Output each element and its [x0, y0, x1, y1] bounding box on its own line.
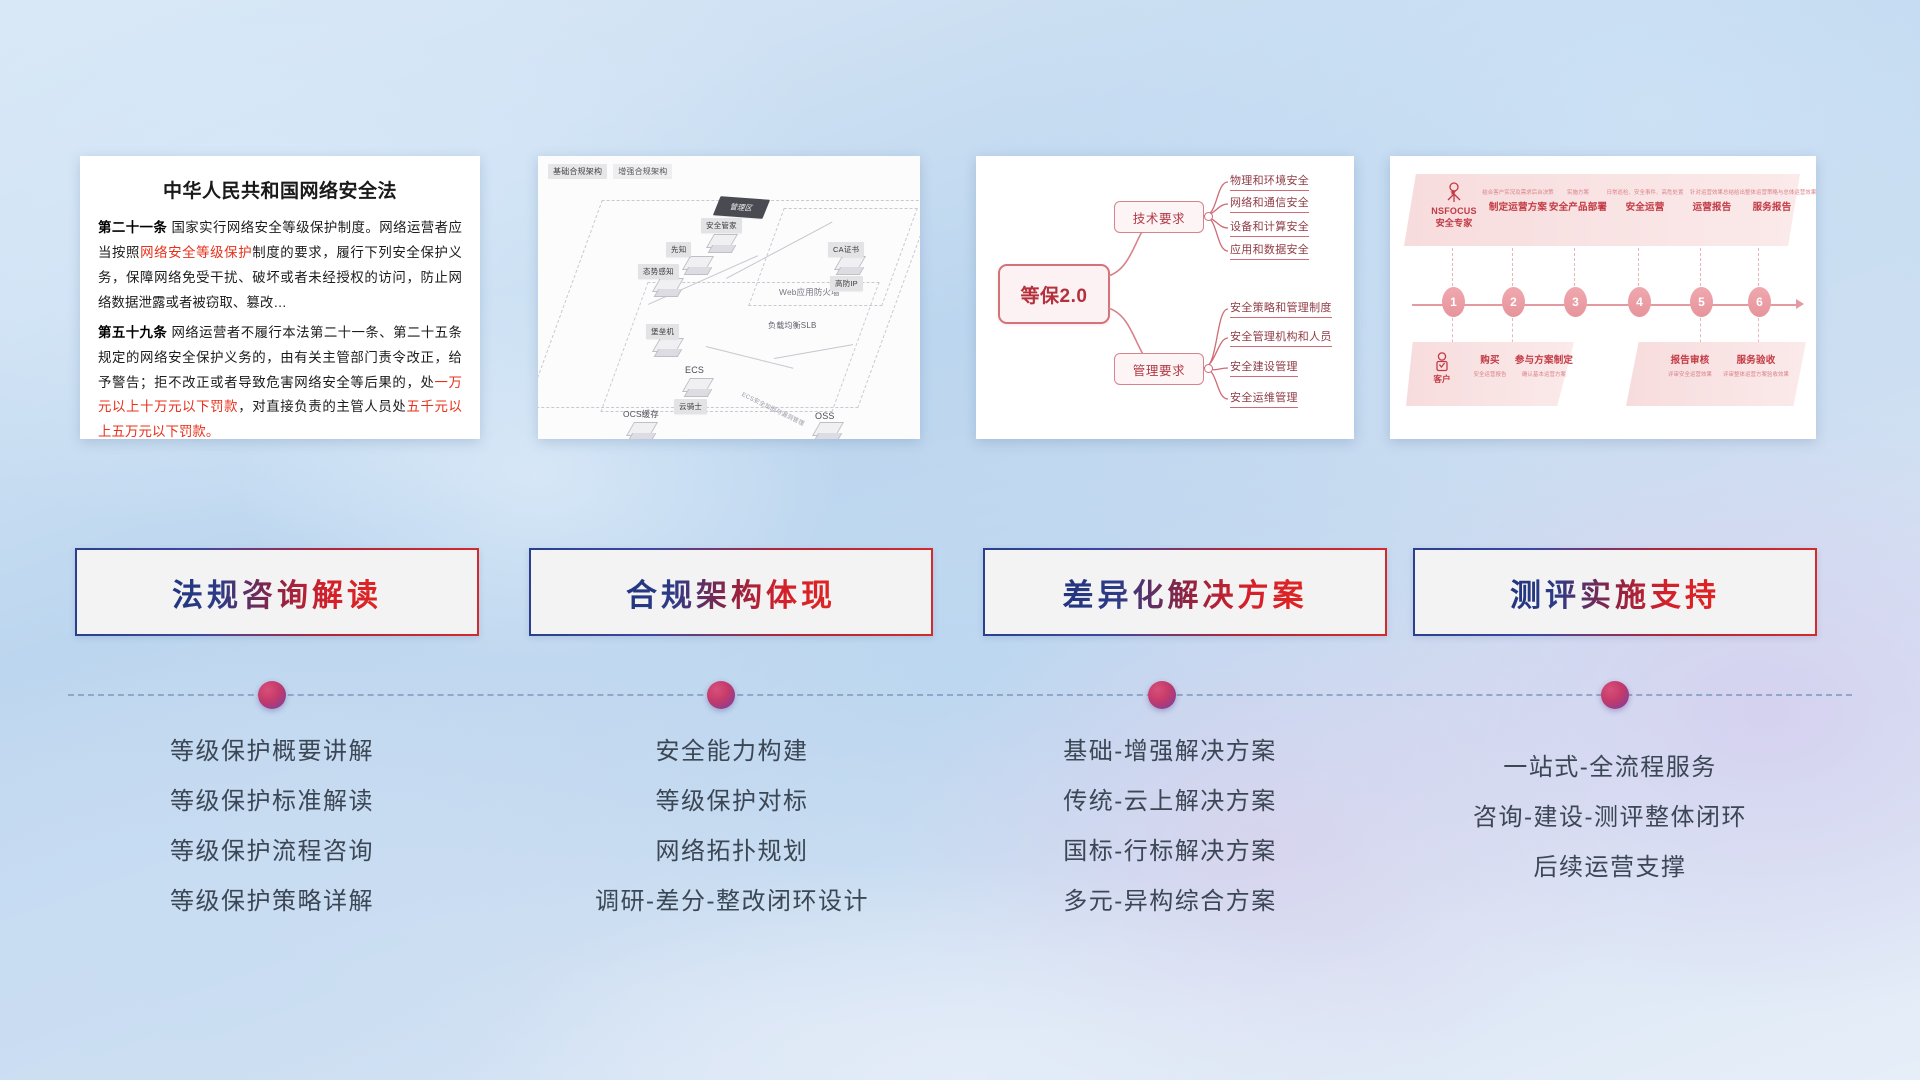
nsfocus-marker-3: 3: [1564, 287, 1587, 317]
nsfocus-tick-5: [1700, 248, 1702, 286]
feature-item: 等级保护概要讲解: [62, 740, 482, 764]
nsfocus-marker-5: 5: [1690, 287, 1713, 317]
section-title-box-2[interactable]: 合规架构体现: [529, 548, 933, 636]
feature-item: 传统-云上解决方案: [960, 790, 1380, 814]
feature-item: 等级保护对标: [522, 790, 942, 814]
nsfocus-bottom-step-4: 服务验收 评审整体运营方案验收效果: [1720, 352, 1792, 381]
card-mindmap[interactable]: 等保2.0 技术要求 管理要求 物理和环境安全 网络和通信安: [976, 156, 1354, 439]
law-title: 中华人民共和国网络安全法: [98, 176, 462, 203]
timeline-dot-3[interactable]: [1148, 681, 1176, 709]
nsfocus-top-step-5-title: 服务报告: [1734, 199, 1810, 213]
nsfocus-tick-1: [1452, 248, 1454, 286]
law-article-21-label: 第二十一条: [98, 220, 167, 235]
mindmap-leaf-mgmt-4: 安全运维管理: [1230, 389, 1298, 408]
mindmap-leaf-tech-3: 设备和计算安全: [1230, 218, 1309, 237]
nsfocus-customer-label: 客户: [1418, 352, 1466, 385]
feature-item: 等级保护标准解读: [62, 790, 482, 814]
section-title-box-1[interactable]: 法规咨询解读: [75, 548, 479, 636]
nsfocus-axis-arrow-icon: [1796, 299, 1804, 309]
nsfocus-tick-4: [1638, 248, 1640, 286]
nsfocus-marker-2: 2: [1502, 287, 1525, 317]
nsfocus-timeline-diagram: NSFOCUS 安全专家 结合客户实况及需求后台决策 制定运营方案 实施方案 安…: [1390, 156, 1816, 439]
mindmap-branch-management: 管理要求: [1114, 353, 1204, 385]
law-article-21-highlight: 网络安全等级保护: [140, 245, 252, 260]
nsfocus-bottom-step-3-title: 报告审核: [1658, 352, 1722, 366]
nsfocus-expert-line2: 安全专家: [1422, 216, 1486, 229]
architecture-node-ocs-cache: OCS缓存: [618, 406, 664, 422]
feature-item: 国标-行标解决方案: [960, 840, 1380, 864]
nsfocus-bottom-step-2-desc: 确认基本运营方案: [1504, 370, 1584, 378]
section-title-1: 法规咨询解读: [172, 570, 382, 615]
section-title-box-3[interactable]: 差异化解决方案: [983, 548, 1387, 636]
feature-item: 后续运营支撑: [1400, 856, 1820, 880]
feature-item: 网络拓扑规划: [522, 840, 942, 864]
mindmap-leaf-tech-2: 网络和通信安全: [1230, 194, 1309, 213]
nsfocus-marker-1: 1: [1442, 287, 1465, 317]
architecture-node-situational-awareness: 态势感知: [638, 264, 679, 279]
feature-item: 基础-增强解决方案: [960, 740, 1380, 764]
nsfocus-bottom-step-4-title: 服务验收: [1720, 352, 1792, 366]
section-title-box-4[interactable]: 测评实施支持: [1413, 548, 1817, 636]
mindmap-dot-management: [1204, 364, 1213, 373]
feature-item: 一站式-全流程服务: [1400, 756, 1820, 780]
nsfocus-expert-line1: NSFOCUS: [1422, 206, 1486, 216]
mindmap-diagram: 等保2.0 技术要求 管理要求 物理和环境安全 网络和通信安: [976, 156, 1354, 439]
feature-list-3: 基础-增强解决方案 传统-云上解决方案 国标-行标解决方案 多元-异构综合方案: [960, 740, 1380, 940]
feature-list-2: 安全能力构建 等级保护对标 网络拓扑规划 调研-差分-整改闭环设计: [522, 740, 942, 940]
card-compliance-architecture[interactable]: 基础合规架构 增强合规架构 管理区 安全管家 先知: [538, 156, 920, 439]
nsfocus-top-step-5: 给出整体运营策略与总体运营效果 服务报告: [1734, 188, 1810, 213]
nsfocus-expert-label: NSFOCUS 安全专家: [1422, 182, 1486, 229]
timeline-dot-4[interactable]: [1601, 681, 1629, 709]
architecture-node-anti-ddos-ip: 高防IP: [830, 276, 863, 291]
feature-list-1: 等级保护概要讲解 等级保护标准解读 等级保护流程咨询 等级保护策略详解: [62, 740, 482, 940]
nsfocus-axis-line: [1412, 304, 1798, 306]
architecture-node-ca-cert: CA证书: [828, 242, 864, 257]
nsfocus-bottom-step-4-desc: 评审整体运营方案验收效果: [1720, 370, 1792, 378]
law-article-21: 第二十一条 国家实行网络安全等级保护制度。网络运营者应当按照网络安全等级保护制度…: [98, 216, 462, 316]
nsfocus-tick-3: [1574, 248, 1576, 286]
mindmap-leaf-mgmt-1: 安全策略和管理制度: [1230, 299, 1332, 318]
mindmap-leaf-mgmt-3: 安全建设管理: [1230, 358, 1298, 377]
feature-item: 咨询-建设-测评整体闭环: [1400, 806, 1820, 830]
timeline-dot-2[interactable]: [707, 681, 735, 709]
law-article-59-text-b: ，对直接负责的主管人员处: [238, 399, 406, 414]
nsfocus-tick-6: [1758, 248, 1760, 286]
architecture-node-ecs: ECS: [680, 363, 709, 377]
section-title-2: 合规架构体现: [626, 570, 836, 615]
section-title-4: 测评实施支持: [1510, 570, 1720, 615]
nsfocus-marker-6: 6: [1748, 287, 1771, 317]
nsfocus-marker-4: 4: [1628, 287, 1651, 317]
nsfocus-tick-2: [1512, 248, 1514, 286]
feature-item: 多元-异构综合方案: [960, 890, 1380, 914]
mindmap-dot-technical: [1204, 212, 1213, 221]
section-title-3: 差异化解决方案: [1063, 570, 1308, 615]
law-article-59: 第五十九条 网络运营者不履行本法第二十一条、第二十五条规定的网络安全保护义务的，…: [98, 321, 462, 439]
architecture-tab-enhanced[interactable]: 增强合规架构: [613, 164, 672, 179]
feature-item: 等级保护流程咨询: [62, 840, 482, 864]
architecture-node-slb: 负载均衡SLB: [763, 318, 822, 333]
mindmap-leaf-mgmt-2: 安全管理机构和人员: [1230, 328, 1332, 347]
architecture-diagram: 基础合规架构 增强合规架构 管理区 安全管家 先知: [538, 156, 920, 439]
expert-person-icon: [1444, 182, 1464, 204]
architecture-tabs: 基础合规架构 增强合规架构: [548, 164, 672, 179]
architecture-node-management-zone: 管理区: [713, 196, 770, 219]
nsfocus-bottom-step-2-title: 参与方案制定: [1504, 352, 1584, 366]
timeline-dot-1[interactable]: [258, 681, 286, 709]
timeline-rail: [68, 694, 1852, 696]
feature-item: 调研-差分-整改闭环设计: [522, 890, 942, 914]
architecture-tab-basic[interactable]: 基础合规架构: [548, 164, 607, 179]
architecture-node-bastion-host: 堡垒机: [646, 324, 679, 339]
law-document-body: 中华人民共和国网络安全法 第二十一条 国家实行网络安全等级保护制度。网络运营者应…: [80, 156, 480, 439]
nsfocus-top-step-5-desc: 给出整体运营策略与总体运营效果: [1734, 188, 1810, 196]
nsfocus-bottom-step-2: 参与方案制定 确认基本运营方案: [1504, 352, 1584, 381]
architecture-node-xianzhi: 先知: [666, 242, 691, 257]
architecture-node-yunqishi: 云骑士: [674, 399, 707, 414]
mindmap-leaf-tech-1: 物理和环境安全: [1230, 172, 1309, 191]
card-nsfocus-timeline[interactable]: NSFOCUS 安全专家 结合客户实况及需求后台决策 制定运营方案 实施方案 安…: [1390, 156, 1816, 439]
architecture-node-security-butler: 安全管家: [701, 218, 742, 233]
mindmap-leaf-tech-4: 应用和数据安全: [1230, 241, 1309, 260]
architecture-node-oss: OSS: [810, 409, 840, 423]
feature-item: 安全能力构建: [522, 740, 942, 764]
law-article-59-label: 第五十九条: [98, 325, 167, 340]
mindmap-branch-technical: 技术要求: [1114, 201, 1204, 233]
card-law-document[interactable]: 中华人民共和国网络安全法 第二十一条 国家实行网络安全等级保护制度。网络运营者应…: [80, 156, 480, 439]
feature-list-4: 一站式-全流程服务 咨询-建设-测评整体闭环 后续运营支撑: [1400, 756, 1820, 906]
customer-person-icon: [1433, 352, 1451, 372]
nsfocus-bottom-step-3: 报告审核 评审安全运营效果: [1658, 352, 1722, 381]
feature-item: 等级保护策略详解: [62, 890, 482, 914]
nsfocus-bottom-step-3-desc: 评审安全运营效果: [1658, 370, 1722, 378]
nsfocus-customer-text: 客户: [1418, 373, 1466, 385]
